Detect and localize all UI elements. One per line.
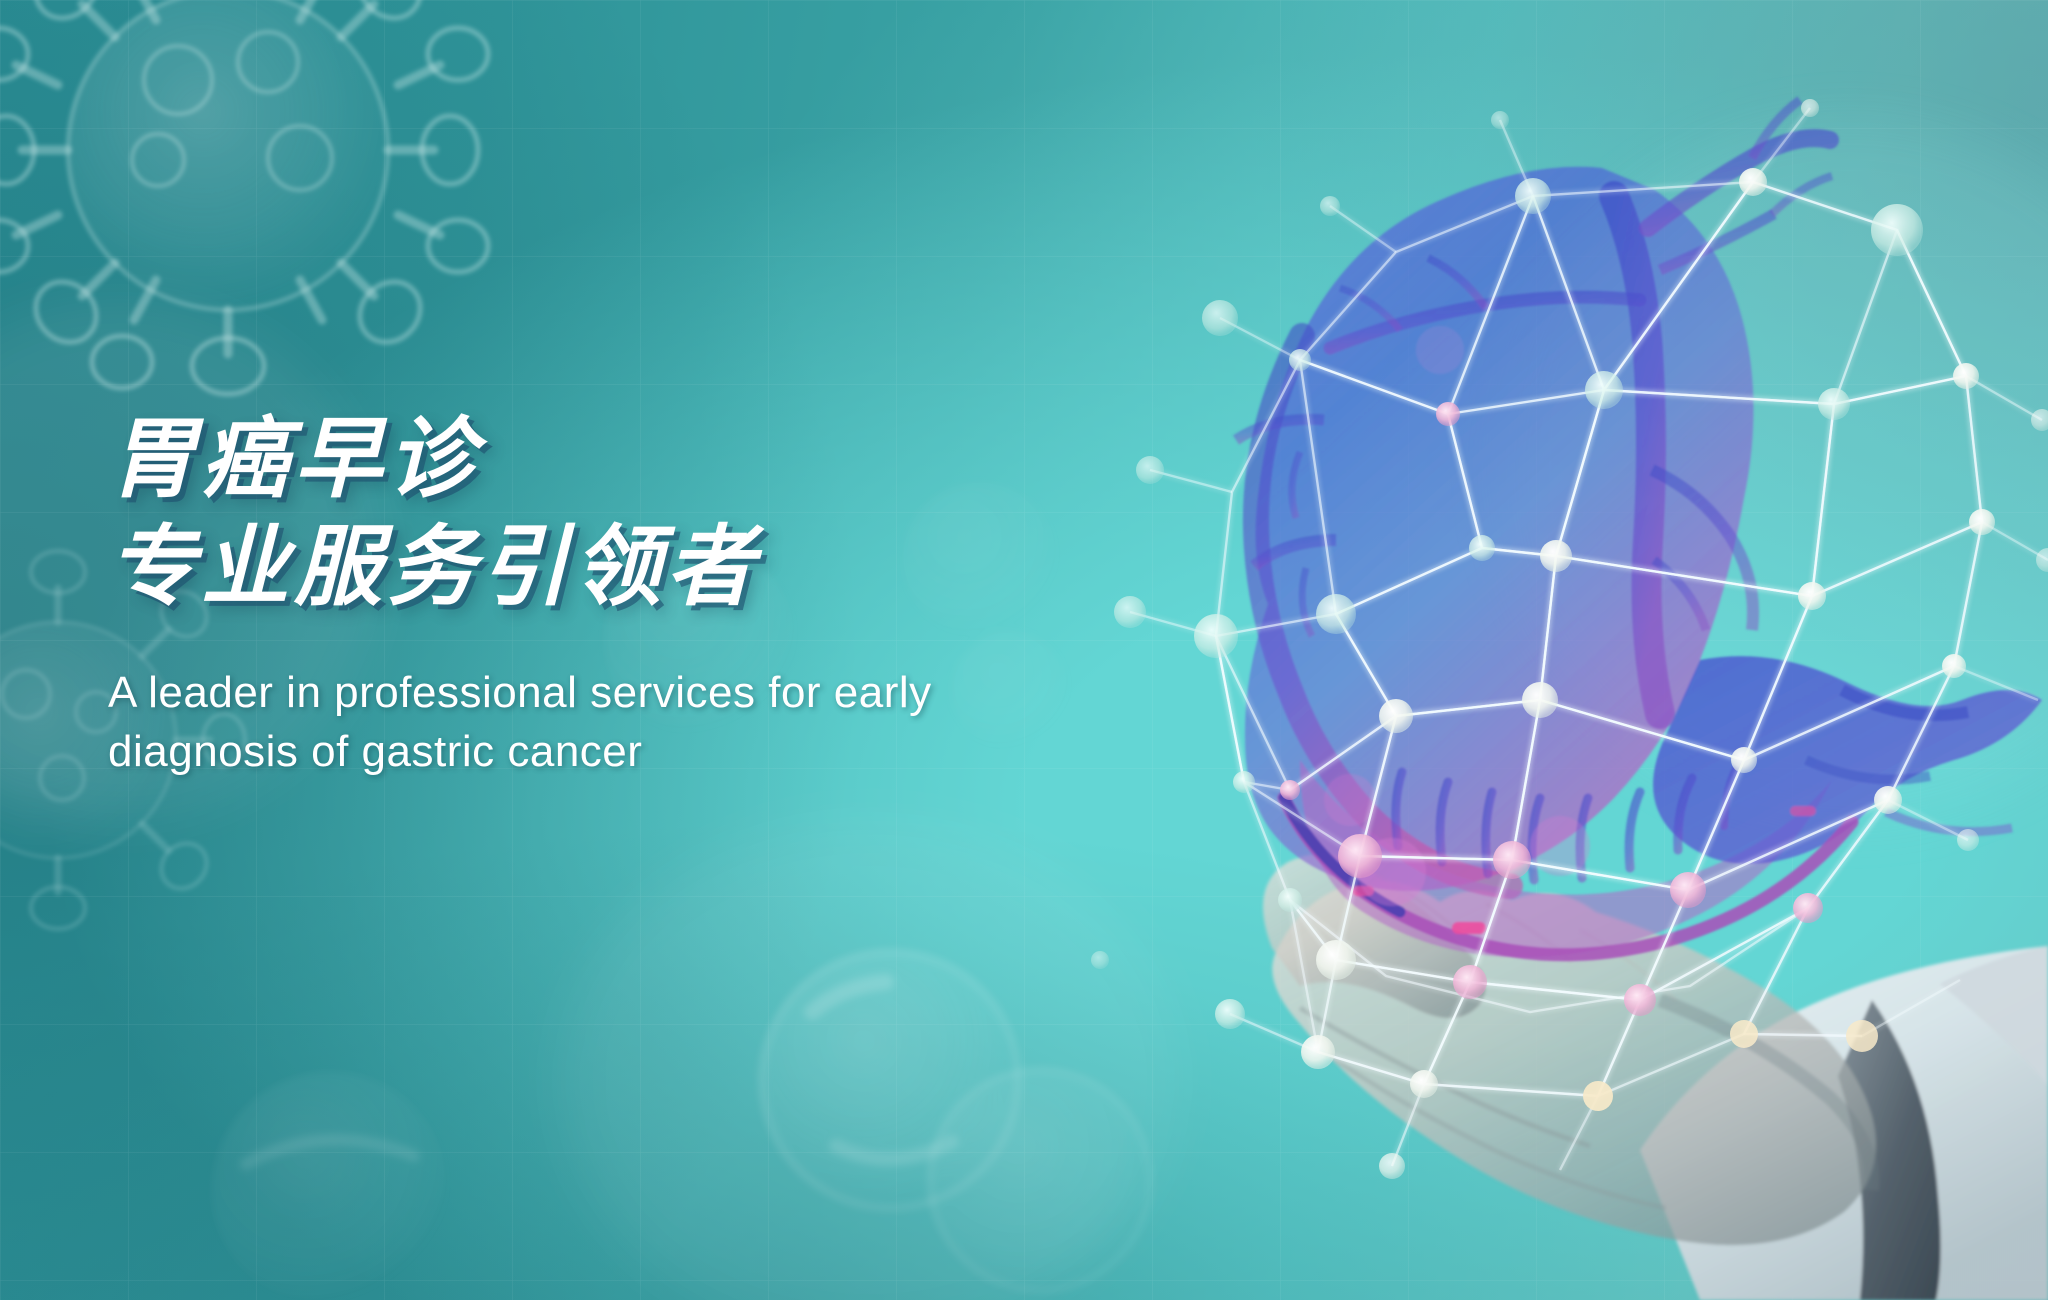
banner-root: 胃癌早诊 专业服务引领者 A leader in professional se…	[0, 0, 2048, 1300]
headline-line-2: 专业服务引领者	[108, 516, 1108, 618]
subtitle-block: A leader in professional services for ea…	[108, 664, 1108, 782]
subtitle-line-2: diagnosis of gastric cancer	[108, 723, 1108, 782]
subtitle-line-1: A leader in professional services for ea…	[108, 664, 1108, 723]
headline-line-1: 胃癌早诊	[108, 408, 1108, 510]
copy-block: 胃癌早诊 专业服务引领者 A leader in professional se…	[108, 408, 1108, 782]
